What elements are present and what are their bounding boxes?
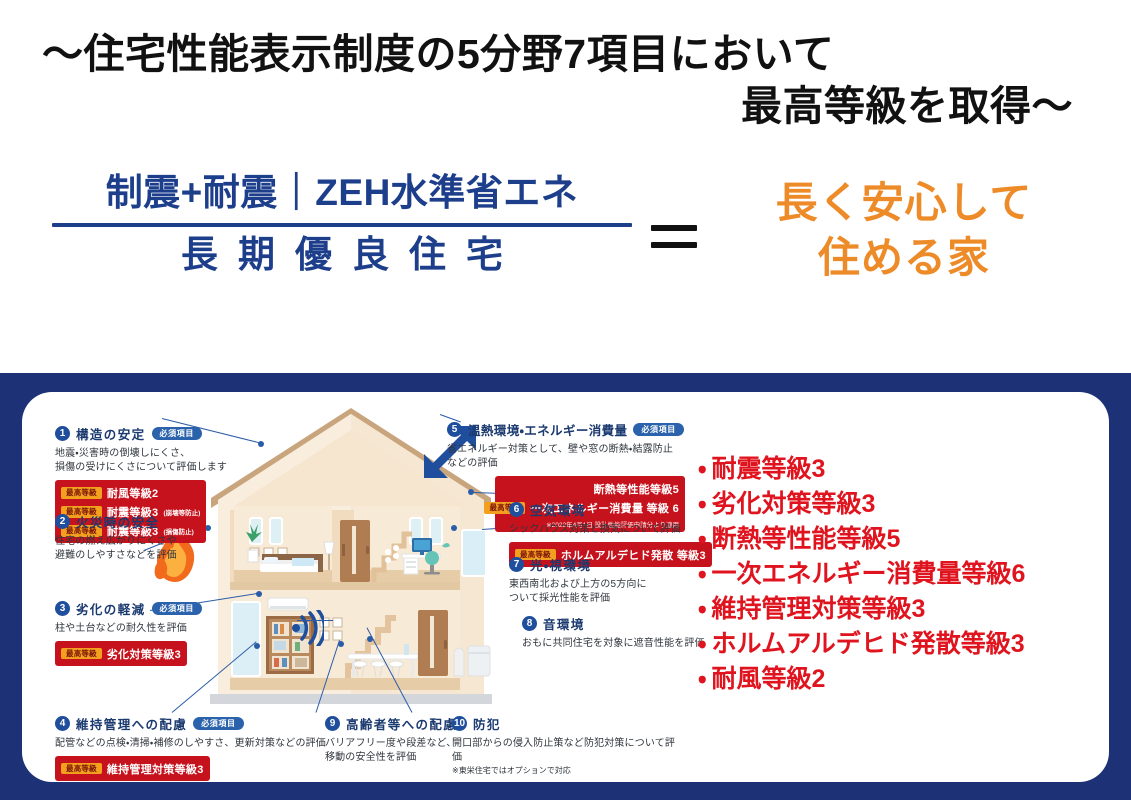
annotation-2-description: 住宅の燃え広がりにくさや 避難のしやすさなどを評価 xyxy=(55,535,235,563)
list-item: ・一次エネルギー消費量等級6 xyxy=(698,557,1098,592)
annotation-number-icon: 4 xyxy=(55,716,70,731)
grade-text: 断熱等性能等級5 xyxy=(593,481,679,497)
annotation-1-header: 1 構造の安定 必須項目 xyxy=(55,424,245,443)
annotation-4-grade-box: 最高等級 維持管理対策等級3 xyxy=(55,756,210,781)
grade-row: 最高等級 劣化対策等級3 xyxy=(59,644,183,663)
fraction-numerator: 制震+耐震｜ZEH水準省エネ xyxy=(42,171,642,215)
annotation-7-light-visual[interactable]: 7 光・視環境 東西南北および上方の5方向に ついて採光性能を評価 xyxy=(509,555,699,606)
annotation-6-description: シックハウス対策と換気について評価 xyxy=(509,523,709,537)
grade-row: 断熱等性能等級5 xyxy=(499,479,681,498)
annotation-7-description: 東西南北および上方の5方向に ついて採光性能を評価 xyxy=(509,578,699,606)
annotation-10-header: 10 防犯 xyxy=(452,714,682,733)
annotation-1-title: 構造の安定 xyxy=(76,424,146,443)
annotation-number-icon: 9 xyxy=(325,716,340,731)
annotation-2-title: 火災時の安全 xyxy=(76,512,159,531)
equals-sign-icon xyxy=(651,225,697,255)
grade-row: 最高等級 耐風等級2 xyxy=(59,483,202,502)
headline-line-1: 〜住宅性能表示制度の5分野7項目において xyxy=(0,28,1131,80)
annotation-number-icon: 5 xyxy=(447,422,462,437)
white-card: 1 構造の安定 必須項目 地震・災害時の倒壊しにくさ、 損傷の受けにくさについて… xyxy=(22,392,1109,782)
grade-row: 最高等級 維持管理対策等級3 xyxy=(59,759,206,778)
annotation-10-note: ※東栄住宅ではオプションで対応 xyxy=(452,766,682,776)
annotation-10-crime-prevention[interactable]: 10 防犯 開口部からの侵入防止策など防犯対策について評価 ※東栄住宅ではオプシ… xyxy=(452,714,682,777)
leader-line xyxy=(297,620,333,621)
list-item-label: 断熱等性能等級5 xyxy=(712,525,901,553)
annotation-7-header: 7 光・視環境 xyxy=(509,555,699,574)
bullet: ・ xyxy=(698,560,707,588)
fraction-bar xyxy=(52,223,632,227)
annotation-7-title: 光・視環境 xyxy=(530,555,591,574)
annotation-6-header: 6 空気環境 xyxy=(509,500,709,519)
grade-text: 維持管理対策等級3 xyxy=(107,761,204,777)
leader-dot xyxy=(258,441,264,447)
annotation-10-description: 開口部からの侵入防止策など防犯対策について評価 xyxy=(452,737,682,765)
annotation-4-description: 配管などの点検・清掃・補修のしやすさ、更新対策などの評価 xyxy=(55,737,355,751)
annotation-5-title: 温熱環境・エネルギー消費量 xyxy=(468,420,627,439)
annotation-4-title: 維持管理への配慮 xyxy=(76,714,187,733)
annotation-5-header: 5 温熱環境・エネルギー消費量 必須項目 xyxy=(447,420,677,439)
annotation-6-title: 空気環境 xyxy=(530,500,586,519)
annotation-10-title: 防犯 xyxy=(473,714,501,733)
bullet: ・ xyxy=(698,630,707,658)
navy-panel: 1 構造の安定 必須項目 地震・災害時の倒壊しにくさ、 損傷の受けにくさについて… xyxy=(0,373,1131,800)
annotation-3-grade-box: 最高等級 劣化対策等級3 xyxy=(55,641,187,666)
annotation-number-icon: 7 xyxy=(509,557,524,572)
required-badge: 必須項目 xyxy=(152,602,202,615)
equation-result-line-1: 長く安心して xyxy=(706,175,1102,230)
bullet: ・ xyxy=(698,490,707,518)
leader-dot xyxy=(367,636,373,642)
annotation-number-icon: 8 xyxy=(522,616,537,631)
annotation-1-description: 地震・災害時の倒壊しにくさ、 損傷の受けにくさについて評価します xyxy=(55,447,245,475)
grade-text: 劣化対策等級3 xyxy=(107,646,181,662)
annotation-4-maintenance[interactable]: 4 維持管理への配慮 必須項目 配管などの点検・清掃・補修のしやすさ、更新対策な… xyxy=(55,714,355,781)
list-item: ・断熱等性能等級5 xyxy=(698,522,1098,557)
bullet: ・ xyxy=(698,595,707,623)
annotation-number-icon: 10 xyxy=(452,716,467,731)
headline-line-2: 最高等級を取得〜 xyxy=(0,80,1131,132)
annotation-3-header: 3 劣化の軽減 必須項目 xyxy=(55,599,255,618)
annotation-9-title: 高齢者等への配慮 xyxy=(346,714,457,733)
list-item: ・耐震等級3 xyxy=(698,452,1098,487)
bullet: ・ xyxy=(698,665,707,693)
list-item: ・劣化対策等級3 xyxy=(698,487,1098,522)
annotation-3-description: 柱や土台などの耐久性を評価 xyxy=(55,622,255,636)
leader-dot xyxy=(338,641,344,647)
annotation-number-icon: 6 xyxy=(509,502,524,517)
list-item: ・維持管理対策等級3 xyxy=(698,592,1098,627)
annotation-number-icon: 3 xyxy=(55,601,70,616)
annotation-3-title: 劣化の軽減 xyxy=(76,599,146,618)
fraction: 制震+耐震｜ZEH水準省エネ 長期優良住宅 xyxy=(42,171,642,277)
equation-result: 長く安心して 住める家 xyxy=(706,175,1102,286)
bullet: ・ xyxy=(698,525,707,553)
page-headline: 〜住宅性能表示制度の5分野7項目において 最高等級を取得〜 xyxy=(0,28,1131,133)
grade-text: 耐風等級2 xyxy=(107,485,159,501)
list-item-label: 耐風等級2 xyxy=(712,665,826,693)
required-badge: 必須項目 xyxy=(633,423,683,436)
annotation-2-header: 2 火災時の安全 xyxy=(55,512,235,531)
top-grade-badge: 最高等級 xyxy=(61,763,102,775)
equation-block: 制震+耐震｜ZEH水準省エネ 長期優良住宅 長く安心して 住める家 xyxy=(0,165,1131,340)
annotation-2-fire-safety[interactable]: 2 火災時の安全 住宅の燃え広がりにくさや 避難のしやすさなどを評価 xyxy=(55,512,235,563)
list-item-label: 劣化対策等級3 xyxy=(712,490,876,518)
list-item: ・ホルムアルデヒド発散等級3 xyxy=(698,627,1098,662)
annotation-5-description: 省エネルギー対策として、壁や窓の断熱・結露防止などの評価 xyxy=(447,443,677,471)
list-item-label: 一次エネルギー消費量等級6 xyxy=(712,560,1026,588)
annotation-8-title: 音環境 xyxy=(543,614,585,633)
list-item: ・耐風等級2 xyxy=(698,662,1098,697)
sound-wave-icon xyxy=(290,610,324,646)
fraction-denominator: 長期優良住宅 xyxy=(42,233,642,277)
list-item-label: 耐震等級3 xyxy=(712,455,826,483)
leader-dot xyxy=(256,591,262,597)
list-item-label: 維持管理対策等級3 xyxy=(712,595,926,623)
annotation-number-icon: 2 xyxy=(55,514,70,529)
list-item-label: ホルムアルデヒド発散等級3 xyxy=(712,630,1025,658)
annotation-3-deterioration[interactable]: 3 劣化の軽減 必須項目 柱や土台などの耐久性を評価 最高等級 劣化対策等級3 xyxy=(55,599,255,666)
annotation-4-header: 4 維持管理への配慮 必須項目 xyxy=(55,714,355,733)
annotation-number-icon: 1 xyxy=(55,426,70,441)
achieved-grade-list: ・耐震等級3 ・劣化対策等級3 ・断熱等性能等級5 ・一次エネルギー消費量等級6… xyxy=(698,452,1098,697)
top-grade-badge: 最高等級 xyxy=(61,648,102,660)
required-badge: 必須項目 xyxy=(152,427,202,440)
equation-result-line-2: 住める家 xyxy=(706,230,1102,285)
bullet: ・ xyxy=(698,455,707,483)
top-grade-badge: 最高等級 xyxy=(61,487,102,499)
required-badge: 必須項目 xyxy=(193,717,243,730)
